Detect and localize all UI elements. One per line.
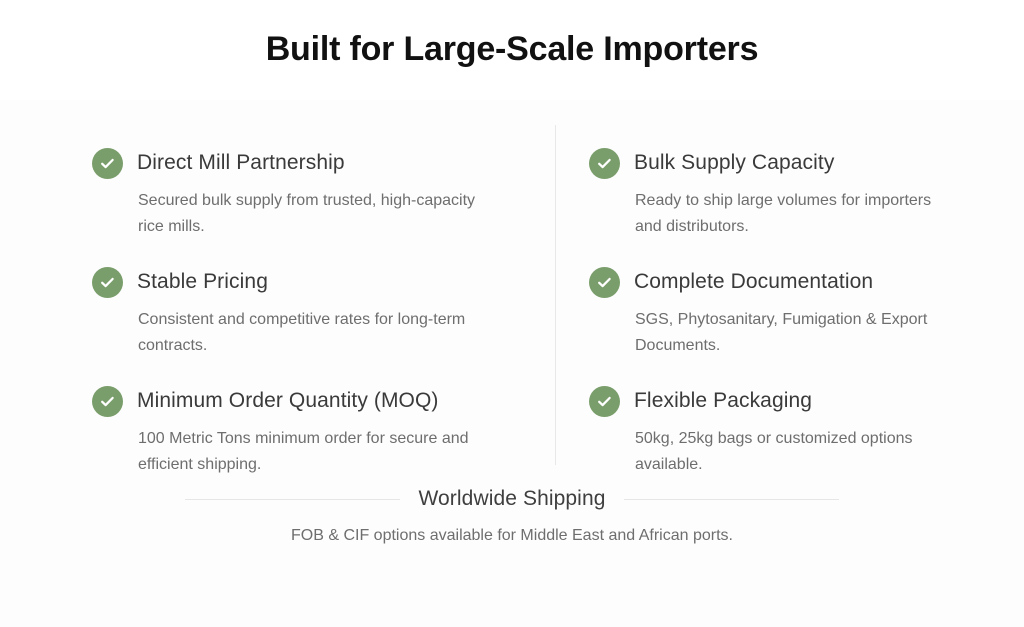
- check-circle-icon: [92, 148, 123, 179]
- feature-item: Bulk Supply Capacity Ready to ship large…: [589, 148, 937, 240]
- feature-title: Flexible Packaging: [634, 388, 812, 414]
- feature-title: Direct Mill Partnership: [137, 150, 345, 176]
- footer-heading: Worldwide Shipping: [418, 487, 605, 511]
- feature-header: Stable Pricing: [92, 267, 537, 298]
- divider-right: [624, 499, 839, 500]
- feature-header: Complete Documentation: [589, 267, 937, 298]
- feature-title: Bulk Supply Capacity: [634, 150, 834, 176]
- features-columns: Direct Mill Partnership Secured bulk sup…: [0, 100, 1024, 477]
- feature-item: Stable Pricing Consistent and competitiv…: [92, 267, 537, 359]
- feature-item: Minimum Order Quantity (MOQ) 100 Metric …: [92, 386, 537, 478]
- features-column-right: Bulk Supply Capacity Ready to ship large…: [537, 148, 937, 477]
- footer: Worldwide Shipping FOB & CIF options ava…: [0, 487, 1024, 576]
- column-divider: [555, 125, 556, 465]
- header: Built for Large-Scale Importers: [0, 0, 1024, 100]
- feature-title: Complete Documentation: [634, 269, 873, 295]
- feature-item: Flexible Packaging 50kg, 25kg bags or cu…: [589, 386, 937, 478]
- check-circle-icon: [92, 267, 123, 298]
- feature-header: Minimum Order Quantity (MOQ): [92, 386, 537, 417]
- check-circle-icon: [589, 386, 620, 417]
- page-title: Built for Large-Scale Importers: [266, 31, 759, 68]
- feature-description: Consistent and competitive rates for lon…: [138, 307, 498, 359]
- feature-title: Stable Pricing: [137, 269, 268, 295]
- features-column-left: Direct Mill Partnership Secured bulk sup…: [92, 148, 537, 477]
- footer-subtext: FOB & CIF options available for Middle E…: [0, 524, 1024, 548]
- feature-header: Direct Mill Partnership: [92, 148, 537, 179]
- feature-item: Complete Documentation SGS, Phytosanitar…: [589, 267, 937, 359]
- feature-item: Direct Mill Partnership Secured bulk sup…: [92, 148, 537, 240]
- feature-header: Bulk Supply Capacity: [589, 148, 937, 179]
- feature-description: Ready to ship large volumes for importer…: [635, 188, 937, 240]
- footer-heading-row: Worldwide Shipping: [0, 487, 1024, 511]
- feature-header: Flexible Packaging: [589, 386, 937, 417]
- features-section: Direct Mill Partnership Secured bulk sup…: [0, 100, 1024, 627]
- feature-description: 50kg, 25kg bags or customized options av…: [635, 426, 937, 478]
- feature-description: Secured bulk supply from trusted, high-c…: [138, 188, 498, 240]
- feature-title: Minimum Order Quantity (MOQ): [137, 388, 439, 414]
- marketing-feature-panel: Built for Large-Scale Importers Direct M…: [0, 0, 1024, 627]
- feature-description: SGS, Phytosanitary, Fumigation & Export …: [635, 307, 937, 359]
- feature-description: 100 Metric Tons minimum order for secure…: [138, 426, 498, 478]
- divider-left: [185, 499, 400, 500]
- check-circle-icon: [92, 386, 123, 417]
- check-circle-icon: [589, 267, 620, 298]
- check-circle-icon: [589, 148, 620, 179]
